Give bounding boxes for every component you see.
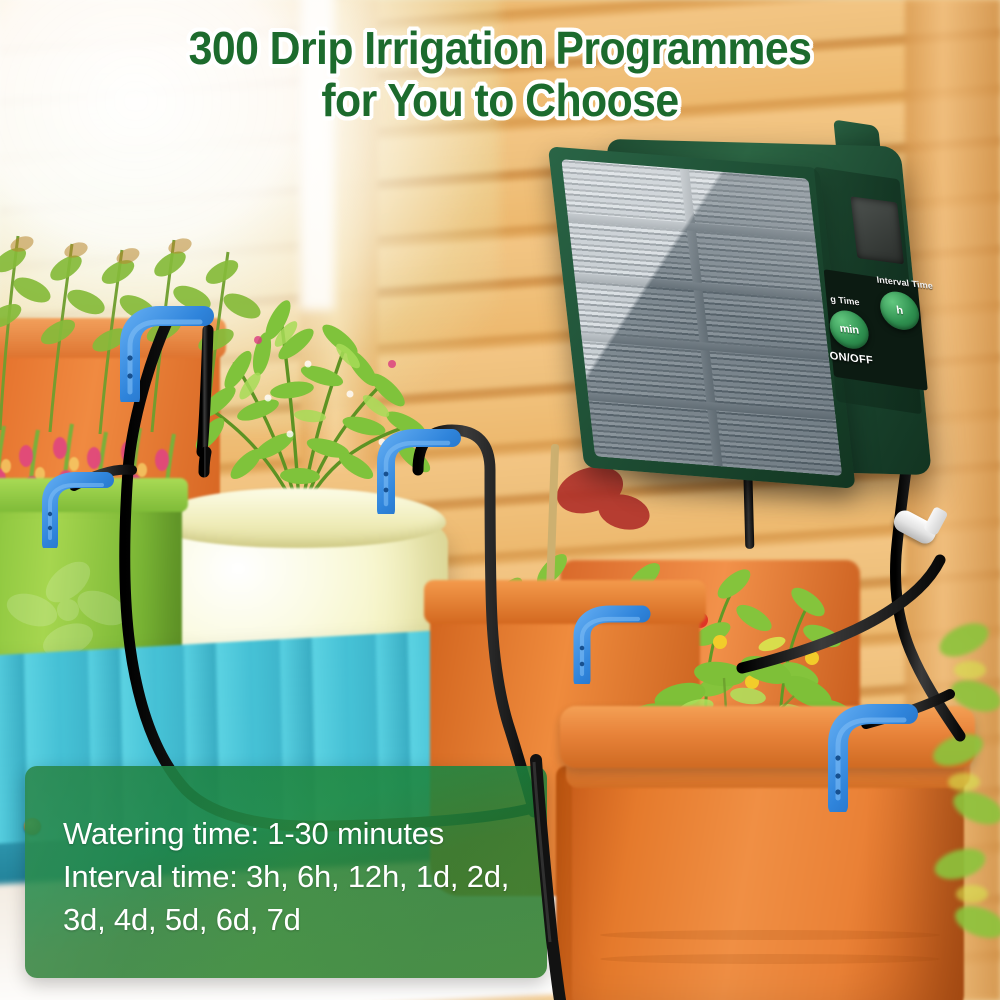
product-marketing-image: g Time min ON/OFF Interval Time h 300 Dr… — [0, 0, 1000, 1000]
drip-hose-foreground — [0, 0, 1000, 1000]
